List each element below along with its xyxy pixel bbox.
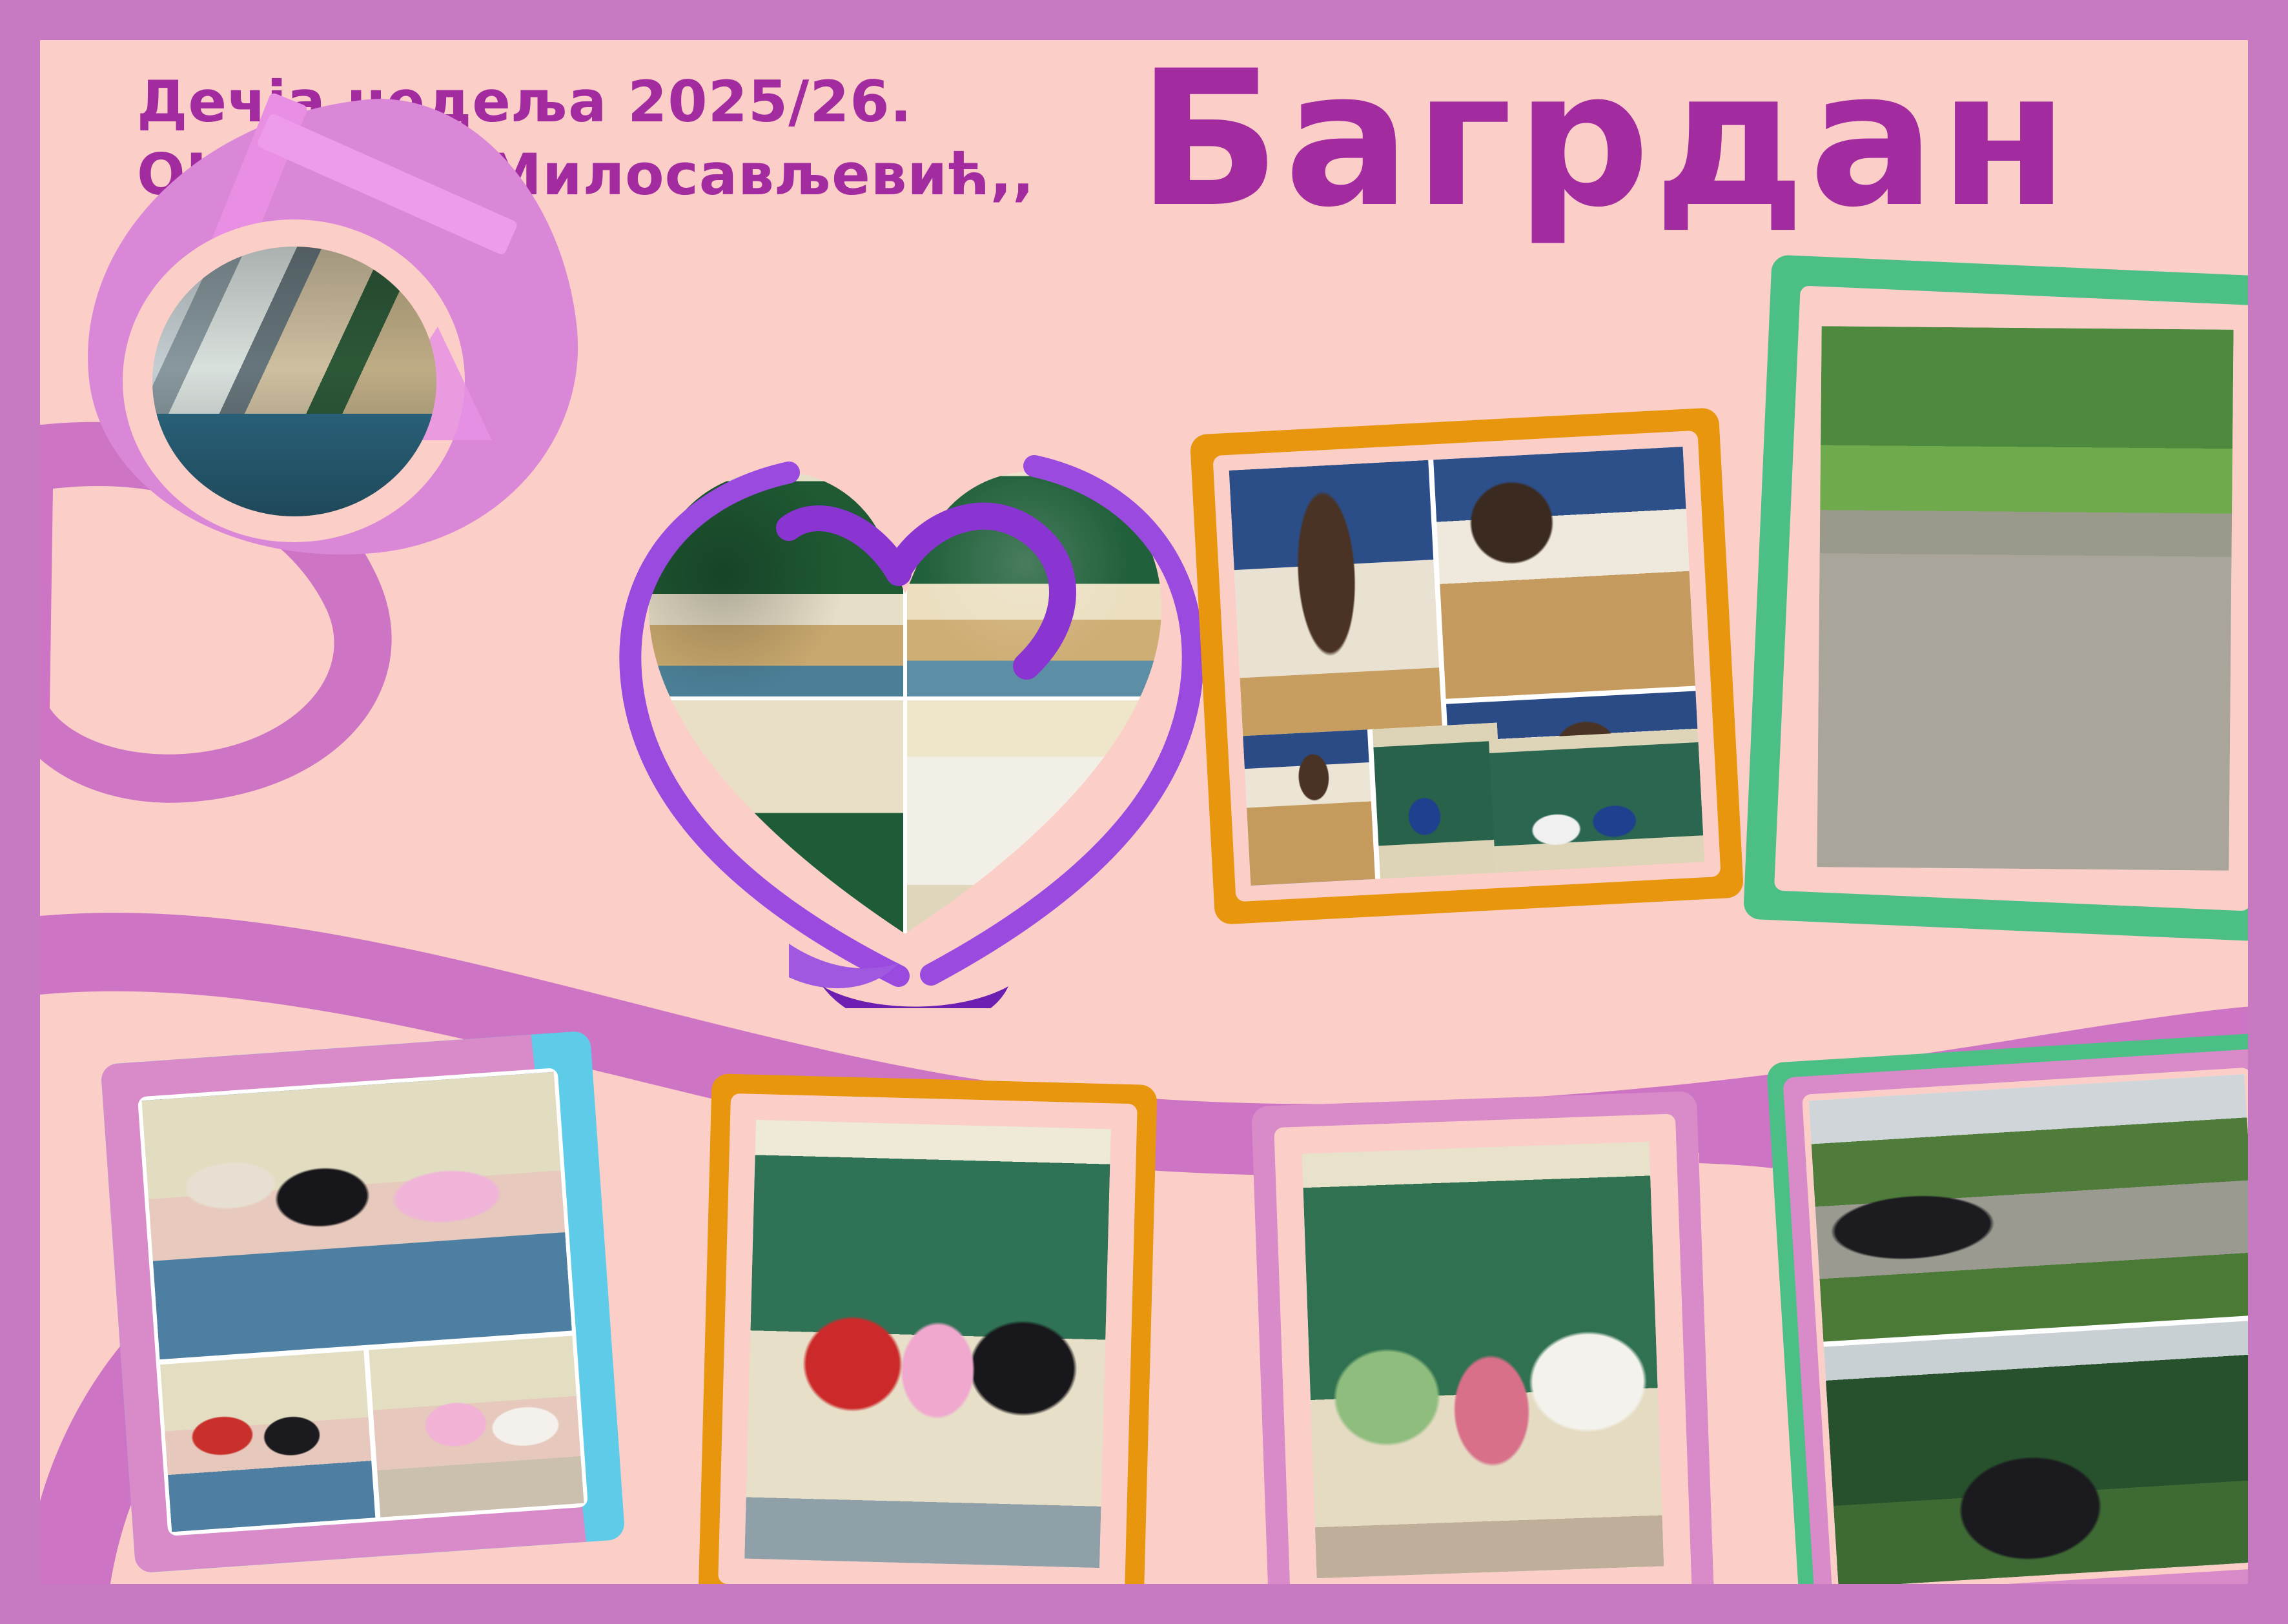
frame-photo-area	[1817, 326, 2233, 871]
frame-green-sports-collage[interactable]	[1766, 1031, 2248, 1584]
frame-photo-area	[1809, 1074, 2248, 1584]
frame-green-hopscotch[interactable]	[1743, 254, 2248, 942]
frame-orange-writing-collage[interactable]	[1190, 407, 1744, 925]
photo-writing-notebook	[1243, 729, 1375, 886]
page-title: Багрдан	[1138, 46, 2072, 234]
heart-outline-decor	[595, 427, 1241, 1008]
photo-costume-group	[141, 1071, 572, 1359]
photo-writing-girl-1	[1434, 447, 1696, 699]
frame-orange-three-costumes[interactable]	[698, 1073, 1157, 1584]
frame-photo-area	[1302, 1142, 1664, 1578]
photo-sports-volleyball	[1809, 1074, 2248, 1342]
frame-heart-blackboard[interactable]	[595, 427, 1241, 1008]
frame-blue-costumes-collage[interactable]	[100, 1030, 625, 1573]
photo-sports-group	[1824, 1320, 2248, 1584]
frame-teardrop-classroom[interactable]	[85, 105, 576, 556]
frame-photo-area	[1229, 447, 1705, 886]
photo-three-costumes	[744, 1120, 1111, 1568]
frame-photo-area	[141, 1071, 584, 1532]
photo-hopscotch-yard	[1817, 326, 2233, 871]
photo-costume-princess-ghost	[369, 1336, 584, 1517]
frame-photo-area	[744, 1120, 1111, 1568]
photo-three-girls-classroom	[1302, 1142, 1664, 1578]
photo-classroom-circle	[152, 247, 436, 516]
photo-board-two-kids	[1489, 729, 1704, 873]
poster-canvas: Дечја недеља 2025/26. ОШ ,,Јоца Милосављ…	[0, 0, 2288, 1624]
photo-costume-witch	[160, 1350, 375, 1532]
poster-page: Дечја недеља 2025/26. ОШ ,,Јоца Милосављ…	[40, 40, 2248, 1584]
frame-pink-three-girls[interactable]	[1251, 1091, 1715, 1584]
photo-board-boy	[1373, 723, 1505, 879]
